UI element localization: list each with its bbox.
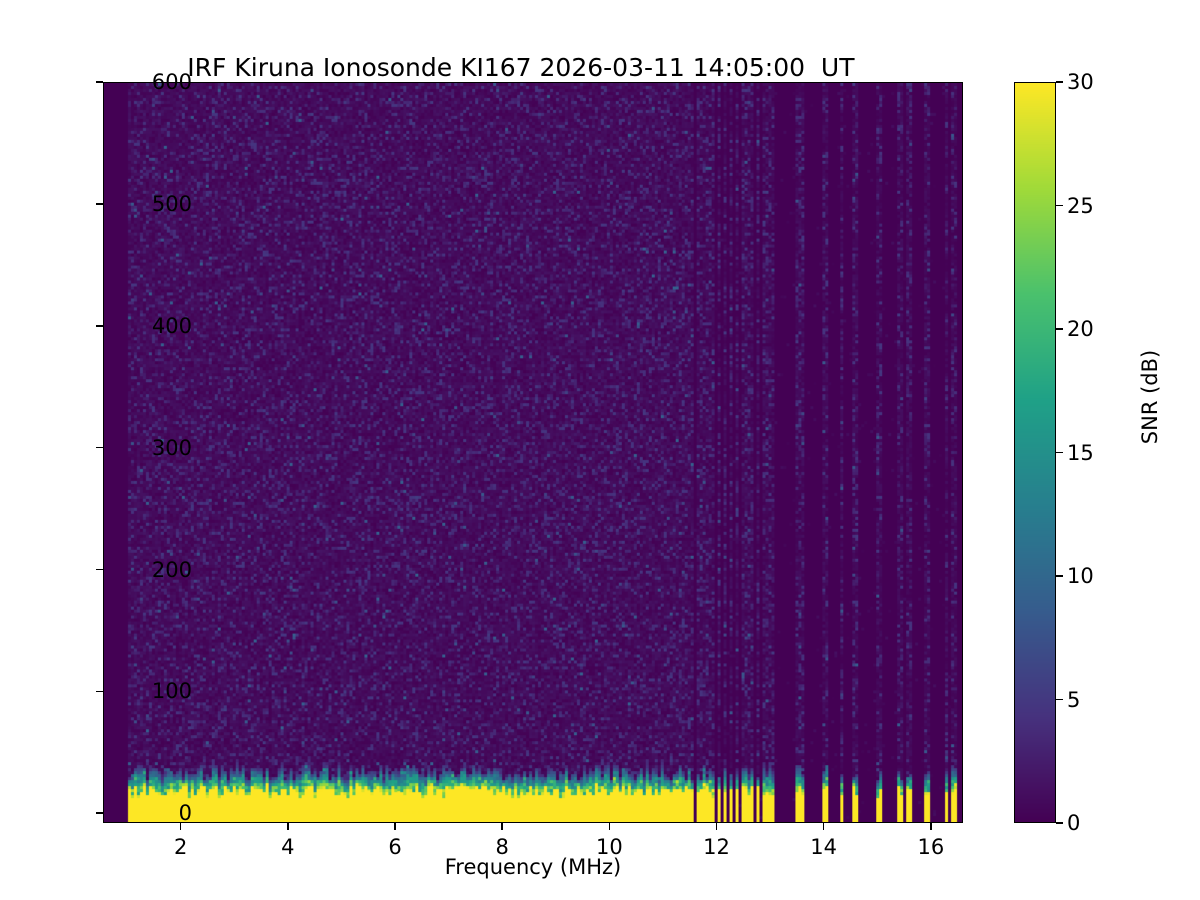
colorbar-tick-label: 20 — [1067, 317, 1094, 341]
x-axis-tick-mark — [180, 823, 182, 830]
colorbar-tick-label: 0 — [1067, 811, 1080, 835]
y-axis-tick-label: 600 — [72, 70, 192, 94]
x-axis-tick-label: 8 — [462, 835, 542, 859]
y-axis-tick-mark — [96, 81, 103, 83]
colorbar-tick-mark — [1056, 328, 1063, 330]
colorbar-tick-mark — [1056, 699, 1063, 701]
x-axis-tick-mark — [287, 823, 289, 830]
heatmap-plot-area — [103, 82, 963, 823]
y-axis-tick-label: 200 — [72, 558, 192, 582]
x-axis-tick-label: 10 — [569, 835, 649, 859]
colorbar-label: SNR (dB) — [1138, 267, 1162, 527]
x-axis-tick-label: 4 — [248, 835, 328, 859]
colorbar-tick-label: 15 — [1067, 441, 1094, 465]
y-axis-tick-mark — [96, 691, 103, 693]
x-axis-tick-label: 12 — [677, 835, 757, 859]
x-axis-tick-mark — [609, 823, 611, 830]
y-axis-tick-label: 500 — [72, 192, 192, 216]
x-axis-tick-mark — [930, 823, 932, 830]
heatmap-image — [104, 83, 962, 822]
colorbar-tick-label: 10 — [1067, 564, 1094, 588]
y-axis-tick-mark — [96, 325, 103, 327]
y-axis-tick-label: 0 — [72, 801, 192, 825]
colorbar-tick-label: 30 — [1067, 70, 1094, 94]
colorbar-tick-mark — [1056, 205, 1063, 207]
x-axis-tick-mark — [501, 823, 503, 830]
x-axis-tick-label: 6 — [355, 835, 435, 859]
y-axis-tick-label: 400 — [72, 314, 192, 338]
title-line-1: IRF Kiruna Ionosonde KI167 2026-03-11 14… — [187, 53, 854, 82]
x-axis-tick-mark — [716, 823, 718, 830]
figure-canvas: IRF Kiruna Ionosonde KI167 2026-03-11 14… — [0, 0, 1200, 900]
colorbar-tick-label: 25 — [1067, 194, 1094, 218]
colorbar-tick-mark — [1056, 822, 1063, 824]
colorbar-tick-mark — [1056, 575, 1063, 577]
x-axis-tick-label: 16 — [891, 835, 971, 859]
x-axis-tick-label: 2 — [141, 835, 221, 859]
y-axis-tick-label: 300 — [72, 436, 192, 460]
colorbar-tick-label: 5 — [1067, 688, 1080, 712]
y-axis-tick-mark — [96, 447, 103, 449]
x-axis-tick-mark — [823, 823, 825, 830]
colorbar — [1014, 82, 1056, 823]
colorbar-tick-mark — [1056, 81, 1063, 83]
colorbar-gradient — [1015, 83, 1055, 822]
y-axis-tick-mark — [96, 812, 103, 814]
y-axis-tick-mark — [96, 203, 103, 205]
colorbar-tick-mark — [1056, 452, 1063, 454]
y-axis-tick-label: 100 — [72, 679, 192, 703]
x-axis-tick-mark — [394, 823, 396, 830]
y-axis-tick-mark — [96, 569, 103, 571]
x-axis-tick-label: 14 — [784, 835, 864, 859]
